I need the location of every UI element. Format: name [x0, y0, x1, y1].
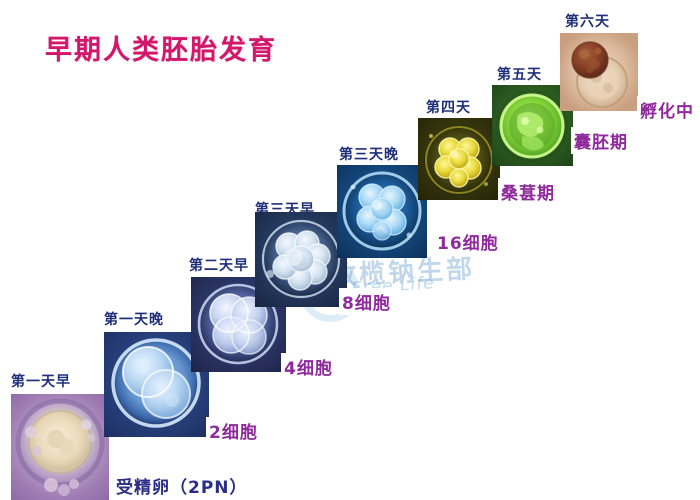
- day-label-stage-6: 第四天: [423, 96, 474, 118]
- day-label-stage-7: 第五天: [494, 63, 545, 85]
- hatching-blastocyst-icon: [560, 33, 638, 111]
- 8-cell-embryo-icon: [255, 212, 347, 307]
- micrograph-stage-4: [255, 212, 347, 307]
- day-label-stage-2: 第一天晚: [101, 308, 167, 330]
- micrograph-stage-6: [418, 118, 500, 200]
- micrograph-stage-1: [11, 394, 109, 500]
- stage-label-stage-5: 16细胞: [434, 228, 502, 255]
- micrograph-stage-8: [560, 33, 638, 111]
- stage-label-stage-3: 4细胞: [281, 353, 336, 380]
- stage-label-stage-8: 孵化中: [637, 96, 697, 123]
- stage-label-stage-6: 桑葚期: [498, 178, 558, 205]
- day-label-stage-5: 第三天晚: [336, 143, 402, 165]
- day-label-stage-1: 第一天早: [8, 370, 74, 392]
- micrograph-stage-5: [337, 165, 427, 258]
- embryo-development-diagram: 放榄钠生部 Free Life 早期人类胚胎发育 第一天早: [0, 0, 700, 500]
- stage-label-stage-4: 8细胞: [339, 288, 394, 315]
- stage-label-stage-1: 受精卵（2PN）: [113, 472, 251, 499]
- day-label-stage-8: 第六天: [562, 10, 613, 32]
- morula-icon: [418, 118, 500, 200]
- zygote-2pn-icon: [11, 394, 109, 500]
- 16-cell-embryo-icon: [337, 165, 427, 258]
- day-label-stage-3: 第二天早: [186, 254, 252, 276]
- stage-label-stage-2: 2细胞: [206, 417, 261, 444]
- stage-label-stage-7: 囊胚期: [571, 127, 631, 154]
- page-title: 早期人类胚胎发育: [45, 28, 277, 67]
